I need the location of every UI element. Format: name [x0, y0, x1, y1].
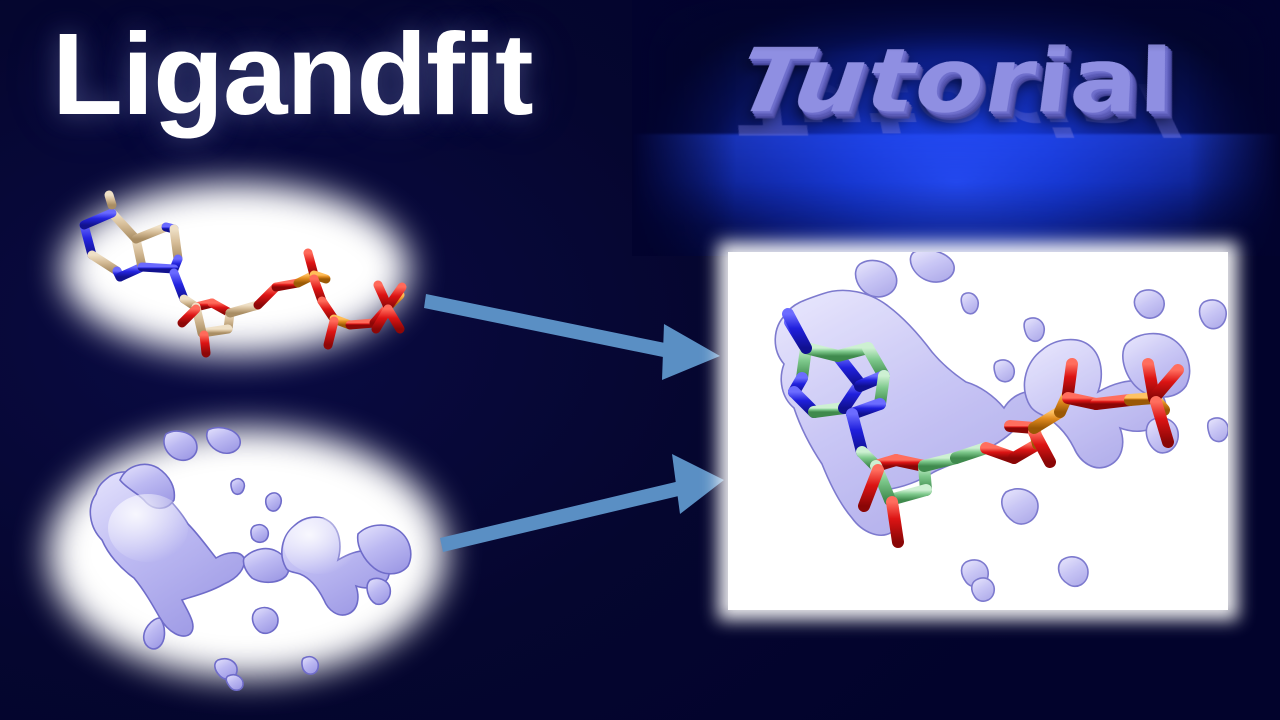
- arrow-density-to-result: [436, 448, 724, 556]
- page-title: Ligandfit: [52, 16, 533, 132]
- fitted-ligand-in-density: [728, 252, 1228, 610]
- output-fit-panel: [728, 252, 1228, 610]
- tutorial-banner: Tutorial Tutorial: [632, 0, 1280, 256]
- density-map-surface: [48, 428, 446, 678]
- slide-canvas: Ligandfit Tutorial Tutorial: [0, 0, 1280, 720]
- arrow-ligand-to-result: [424, 284, 724, 392]
- ligand-stick-model: [62, 183, 410, 355]
- input-ligand-figure: [62, 183, 410, 355]
- input-density-figure: [48, 428, 446, 678]
- tutorial-edge-vignette: [632, 0, 1280, 256]
